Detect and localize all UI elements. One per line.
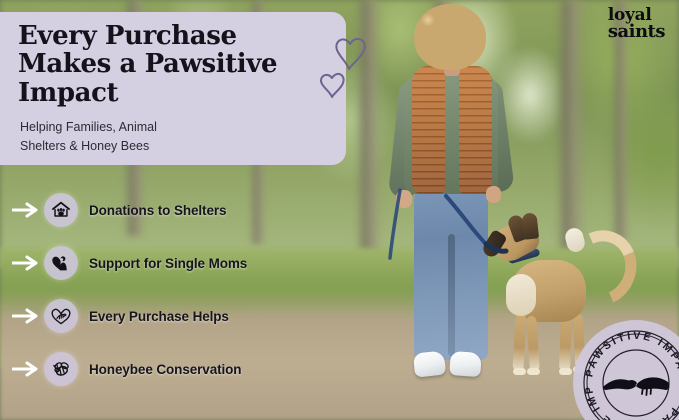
dog-leg — [526, 316, 540, 371]
page-title: Every Purchase Makes a Pawsitive Impact — [18, 22, 330, 107]
dog-paw — [559, 368, 572, 375]
brand-logo[interactable]: loyal saints — [608, 8, 665, 40]
dog-ear — [521, 212, 539, 239]
dog-paw — [513, 368, 526, 375]
sneaker-left — [413, 350, 446, 377]
hand-right — [486, 186, 501, 203]
vest-panel-left — [412, 66, 445, 194]
bee-icon — [44, 352, 78, 386]
leg-shadow — [448, 234, 455, 356]
arrow-right-icon — [12, 306, 42, 326]
vest-panel-right — [459, 66, 492, 194]
arrow-right-icon — [12, 359, 42, 379]
heart-mother-icon — [44, 246, 78, 280]
sneaker-right — [449, 351, 482, 377]
benefit-label: Honeybee Conservation — [89, 362, 241, 377]
stamp-text: PAWSITIVE IMPACT · PAWSITIVE IMPACT · — [573, 320, 679, 420]
dog-paw — [527, 368, 540, 375]
heart-doodles — [318, 22, 382, 108]
headline-panel: Every Purchase Makes a Pawsitive Impact … — [0, 12, 346, 165]
dog-leg — [513, 314, 527, 370]
benefits-list: Donations to Shelters Support for Single… — [12, 190, 332, 402]
house-paw-icon — [44, 193, 78, 227]
benefit-item-honeybee[interactable]: Honeybee Conservation — [12, 349, 332, 389]
heart-icon — [321, 74, 344, 97]
benefit-label: Support for Single Moms — [89, 256, 247, 271]
pawsitive-impact-stamp: PAWSITIVE IMPACT · PAWSITIVE IMPACT · — [573, 320, 679, 420]
puffer-vest — [412, 66, 492, 194]
curly-hair — [414, 4, 486, 70]
heart-icon — [336, 39, 364, 69]
two-hands-reaching-icon — [603, 377, 669, 395]
benefit-item-purchase-helps[interactable]: Every Purchase Helps — [12, 296, 332, 336]
hand-left — [396, 190, 412, 208]
heart-hand-icon — [44, 299, 78, 333]
benefit-item-donations[interactable]: Donations to Shelters — [12, 190, 332, 230]
benefit-item-single-moms[interactable]: Support for Single Moms — [12, 243, 332, 283]
promo-banner: Every Purchase Makes a Pawsitive Impact … — [0, 0, 679, 420]
arrow-right-icon — [12, 253, 42, 273]
arrow-right-icon — [12, 200, 42, 220]
benefit-label: Every Purchase Helps — [89, 309, 229, 324]
logo-line-2: saints — [608, 24, 665, 41]
benefit-label: Donations to Shelters — [89, 203, 226, 218]
page-subtitle: Helping Families, Animal Shelters & Hone… — [20, 118, 330, 157]
